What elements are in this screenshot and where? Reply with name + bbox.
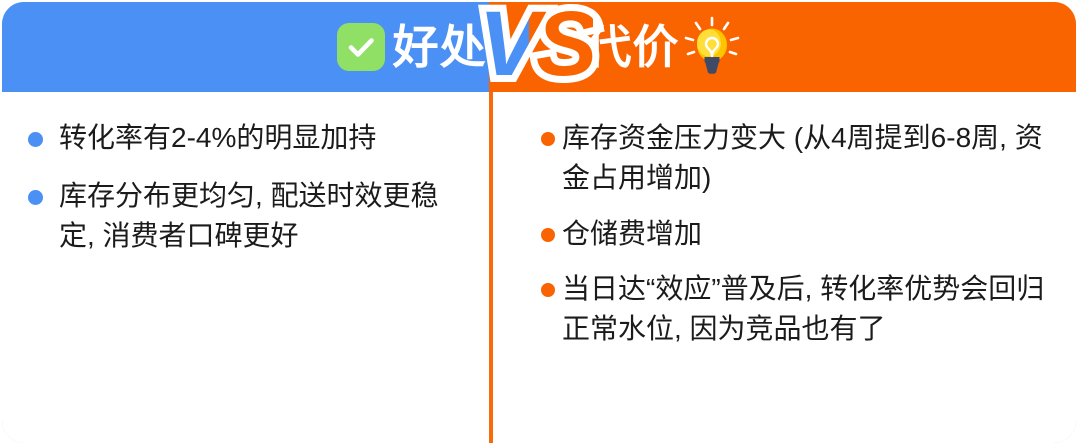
card-frame: 好处 VS VS 代价 [2,2,1076,443]
pros-title: 好处 [393,24,487,70]
cons-column: 库存资金压力变大 (从4周提到6-8周, 资金占用增加) 仓储费增加 当日达“效… [489,92,1076,443]
checkbox-checked-icon [337,23,385,71]
list-item: 转化率有2-4%的明显加持 [28,118,473,158]
bullet-dot-icon [28,190,43,205]
bullet-dot-icon [28,132,43,147]
vs-label: VS VS [479,2,594,90]
body-columns: 转化率有2-4%的明显加持 库存分布更均匀, 配送时效更稳定, 消费者口碑更好 … [2,92,1076,443]
cons-item-text: 仓储费增加 [562,214,1052,254]
pros-column: 转化率有2-4%的明显加持 库存分布更均匀, 配送时效更稳定, 消费者口碑更好 [2,92,489,443]
lightbulb-icon [683,16,741,78]
column-divider [489,92,493,443]
cons-item-text: 库存资金压力变大 (从4周提到6-8周, 资金占用增加) [562,118,1052,198]
list-item: 当日达“效应”普及后, 转化率优势会回归正常水位, 因为竞品也有了 [541,269,1052,349]
bullet-dot-icon [541,132,555,146]
bullet-dot-icon [541,228,555,242]
list-item: 库存资金压力变大 (从4周提到6-8周, 资金占用增加) [541,118,1052,198]
pros-list: 转化率有2-4%的明显加持 库存分布更均匀, 配送时效更稳定, 消费者口碑更好 [28,118,473,255]
list-item: 库存分布更均匀, 配送时效更稳定, 消费者口碑更好 [28,176,473,256]
cons-item-text: 当日达“效应”普及后, 转化率优势会回归正常水位, 因为竞品也有了 [562,269,1052,349]
list-item: 仓储费增加 [541,214,1052,254]
pros-item-text: 库存分布更均匀, 配送时效更稳定, 消费者口碑更好 [59,176,473,256]
pros-item-text: 转化率有2-4%的明显加持 [59,118,473,158]
pros-cons-comparison-card: 好处 VS VS 代价 [0,0,1080,446]
vs-fill-text: VS [479,2,594,90]
cons-list: 库存资金压力变大 (从4周提到6-8周, 资金占用增加) 仓储费增加 当日达“效… [541,118,1052,349]
bullet-dot-icon [541,283,555,297]
cons-title: 代价 [585,24,679,70]
header-content: 好处 VS VS 代价 [2,2,1076,92]
